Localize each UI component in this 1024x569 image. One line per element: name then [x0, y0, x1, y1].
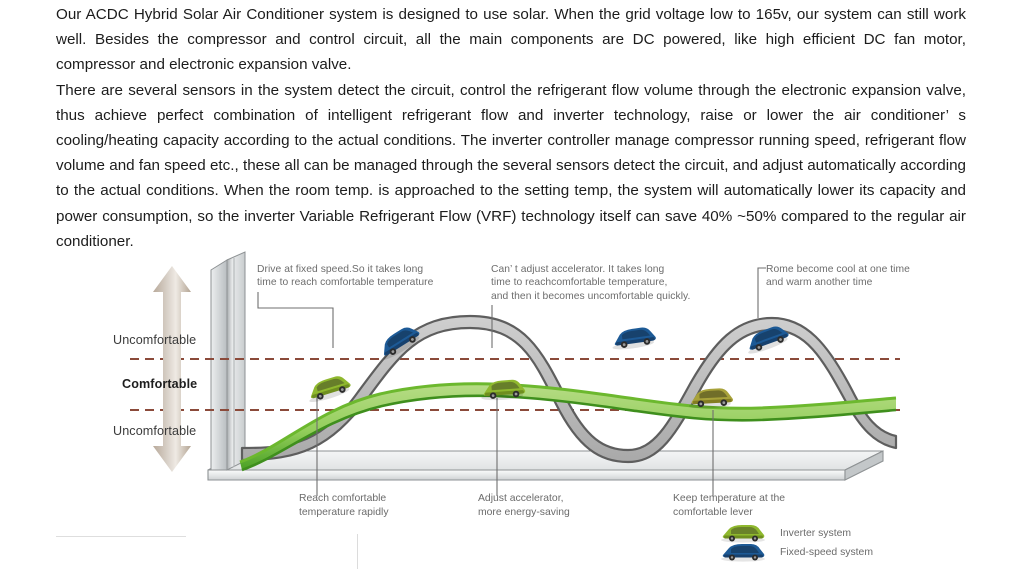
blue-car-icon: [718, 543, 770, 562]
article-text: Our ACDC Hybrid Solar Air Conditioner sy…: [56, 2, 966, 254]
diagram-back-wall: [211, 252, 245, 470]
caption-reach-rapidly: Reach comfortable temperature rapidly: [299, 492, 459, 519]
diagram-platform: [208, 451, 883, 480]
legend-inverter-label: Inverter system: [780, 528, 851, 539]
page-root: Our ACDC Hybrid Solar Air Conditioner sy…: [0, 0, 1024, 569]
axis-label-top: Uncomfortable: [113, 333, 196, 347]
callout-fixed-speed: Drive at fixed speed.So it takes long ti…: [257, 263, 472, 290]
car-marker-blue-2: [610, 326, 657, 351]
footer-vertical-divider: [357, 534, 358, 569]
footer-divider: [56, 536, 186, 537]
paragraph-2: There are several sensors in the system …: [56, 78, 966, 254]
comfort-diagram: Uncomfortable Comfortable Uncomfortable …: [0, 248, 1024, 569]
green-car-icon: [718, 524, 770, 543]
paragraph-1: Our ACDC Hybrid Solar Air Conditioner sy…: [56, 2, 966, 78]
diagram-legend: Inverter system Fixed-speed system: [718, 524, 873, 562]
callout-room-temp: Rome become cool at one time and warm an…: [766, 263, 946, 290]
car-marker-green-1: [305, 373, 353, 405]
comfort-scale-arrow: [153, 266, 191, 472]
legend-fixed-speed: Fixed-speed system: [718, 543, 873, 562]
callout-accelerator: Can’ t adjust accelerator. It takes long…: [491, 263, 731, 303]
legend-fixed-speed-label: Fixed-speed system: [780, 547, 873, 558]
legend-inverter: Inverter system: [718, 524, 873, 543]
caption-keep-temperature: Keep temperature at the comfortable leve…: [673, 492, 843, 519]
caption-adjust-accelerator: Adjust accelerator, more energy-saving: [478, 492, 638, 519]
axis-label-bottom: Uncomfortable: [113, 424, 196, 438]
axis-label-middle: Comfortable: [122, 377, 197, 391]
